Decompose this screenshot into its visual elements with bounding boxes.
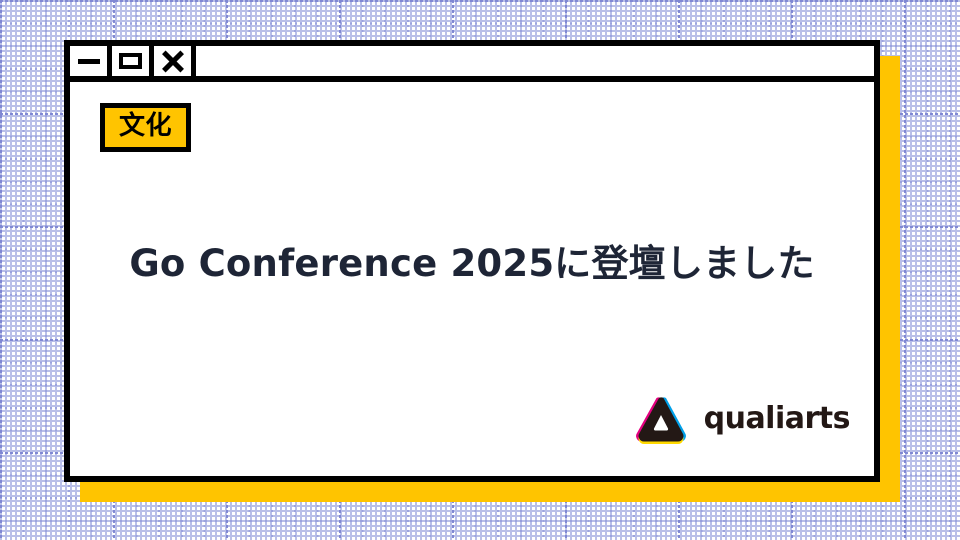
category-badge[interactable]: 文化: [100, 103, 191, 152]
page-title: Go Conference 2025に登壇しました: [70, 240, 874, 288]
qualiarts-triangle-logo-icon: [634, 392, 690, 444]
brand-wordmark: qualiarts: [704, 401, 850, 436]
browser-window: 文化 Go Conference 2025に登壇しました qualiarts: [64, 40, 880, 482]
minimize-icon: [78, 59, 100, 64]
close-button[interactable]: [154, 46, 196, 76]
brand-logo: qualiarts: [634, 392, 850, 444]
window-content-area: 文化 Go Conference 2025に登壇しました qualiarts: [70, 82, 874, 476]
maximize-button[interactable]: [112, 46, 154, 76]
title-bar: [70, 46, 874, 82]
minimize-button[interactable]: [70, 46, 112, 76]
close-icon: [162, 51, 183, 72]
maximize-icon: [119, 53, 142, 69]
window-title: [196, 46, 874, 76]
